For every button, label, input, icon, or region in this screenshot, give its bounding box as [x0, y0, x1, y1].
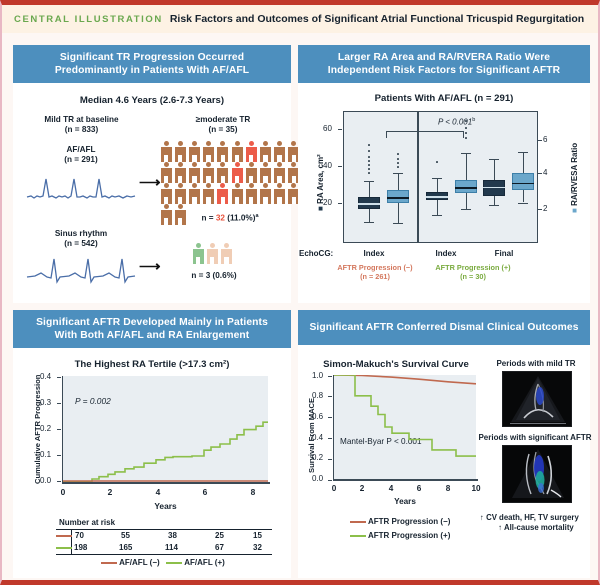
- people-group-sinus: [191, 243, 241, 264]
- whisker-cap: [518, 152, 528, 153]
- central-illustration-poster: CENTRAL ILLUSTRATION Risk Factors and Ou…: [0, 0, 600, 585]
- mild-tr-count: (n = 833): [65, 125, 98, 134]
- person-icon: [216, 141, 230, 162]
- panel-ra-area-boxplot: Larger RA Area and RA/RVERA Ratio Were I…: [298, 45, 590, 303]
- person-icon: [191, 243, 205, 264]
- legend-label-af-neg: AF/AFL (−): [119, 558, 160, 567]
- median-line: [387, 197, 409, 199]
- whisker-cap: [461, 153, 471, 154]
- survival-chart-title: Simon-Makuch's Survival Curve: [306, 359, 486, 370]
- moderate-tr-count: (n = 35): [209, 125, 238, 134]
- median-line: [358, 203, 380, 205]
- whisker-cap: [364, 181, 374, 182]
- x-tick-index-pos: Index: [426, 249, 466, 259]
- echo-bottom-caption: Periods with significant AFTR: [476, 433, 594, 443]
- risk-pos-2: 165: [119, 543, 132, 553]
- risk-table-top-rule: [56, 529, 272, 530]
- person-icon: [244, 162, 258, 183]
- x-tick-index-neg: Index: [354, 249, 394, 259]
- x-tick-final-pos: Final: [484, 249, 524, 259]
- x-axis-title: Years: [63, 501, 268, 511]
- number-at-risk-title: Number at risk: [59, 518, 115, 528]
- person-icon: [230, 162, 244, 183]
- whisker-cap: [518, 203, 528, 204]
- y-tick-1-0: 1.0: [312, 371, 323, 380]
- people-grid-sinus: [191, 243, 241, 264]
- moderate-tr-label: ≥moderate TR: [196, 115, 251, 124]
- person-icon: [159, 141, 173, 162]
- cumulative-chart-title: The Highest RA Tertile (>17.3 cm²): [13, 359, 291, 370]
- y-axis-title: Survival From MACE: [307, 398, 316, 473]
- survival-legend-pos: AFTR Progression (+): [350, 531, 450, 540]
- survival-curves: [334, 375, 476, 479]
- column-header-moderate-tr: ≥moderate TR (n = 35): [163, 115, 283, 135]
- median-line: [426, 196, 448, 198]
- risk-neg-4: 38: [168, 531, 177, 541]
- y-axis-right-title: ■ RA/RVESA Ratio: [570, 143, 579, 213]
- panel-survival-outcomes: Significant AFTR Conferred Dismal Clinic…: [298, 310, 590, 578]
- survival-legend-neg: AFTR Progression (−): [350, 517, 450, 526]
- legend-line-af-neg: [101, 562, 117, 564]
- afib-ecg-waveform: [25, 167, 137, 207]
- x-tick-6: 6: [408, 484, 430, 494]
- result-af-afl: n = 32 (11.0%)a: [159, 211, 301, 224]
- group-label-aftr-pos: AFTR Progression (+) (n = 30): [423, 263, 523, 281]
- outcome-summary: ↑ CV death, HF, TV surgery ↑ All-cause m…: [480, 513, 592, 533]
- person-icon: [173, 183, 187, 204]
- person-icon: [258, 162, 272, 183]
- result-sinus: n = 3 (0.6%): [159, 271, 269, 281]
- x-tick-4: 4: [146, 487, 170, 497]
- risk-neg-2: 55: [121, 531, 130, 541]
- legend-line-af-pos: [166, 562, 182, 564]
- y-axis-left-title: ■ RA Area, cm²: [316, 154, 325, 211]
- risk-table-divider: [71, 529, 72, 554]
- echocardiogram-significant-aftr: [502, 445, 572, 503]
- whisker-cap: [393, 173, 403, 174]
- risk-pos-4: 114: [165, 543, 178, 553]
- median-line: [512, 183, 534, 185]
- result-af-footnote: a: [255, 213, 258, 219]
- person-icon: [173, 141, 187, 162]
- outcome-line-2: ↑ All-cause mortality: [480, 523, 592, 533]
- box-ratio-index-pos: [455, 180, 477, 193]
- whisker-cap: [393, 223, 403, 224]
- column-header-mild-tr: Mild TR at baseline (n = 833): [19, 115, 144, 135]
- group-label-aftr-neg: AFTR Progression (−) (n = 261): [331, 263, 419, 281]
- sinus-ecg-waveform: [25, 251, 137, 291]
- panel-cumulative-aftr: Significant AFTR Developed Mainly in Pat…: [13, 310, 291, 578]
- panel2-title-line1: Larger RA Area and RA/RVERA Ratio Were: [302, 51, 586, 64]
- echo-top-caption: Periods with mild TR: [484, 359, 588, 369]
- boxplot-p-value: P < 0.001b: [438, 117, 475, 127]
- legend-label-aftr-pos: AFTR Progression (+): [368, 531, 450, 540]
- echocg-axis-label: EchoCG:: [299, 249, 333, 259]
- legend-line-aftr-pos: [350, 535, 366, 537]
- significance-bracket: [386, 131, 464, 138]
- person-icon: [230, 141, 244, 162]
- group-label-af-afl: AF/AFL (n = 291): [25, 145, 137, 165]
- x-axis-title: Years: [334, 497, 476, 507]
- panel1-title-line2: Predominantly in Patients With AF/AFL: [17, 64, 287, 77]
- person-icon: [187, 162, 201, 183]
- panel1-title: Significant TR Progression Occurred Pred…: [13, 45, 291, 83]
- mild-tr-label: Mild TR at baseline: [44, 115, 118, 124]
- person-icon: [159, 183, 173, 204]
- whisker-cap: [364, 222, 374, 223]
- poster-header: CENTRAL ILLUSTRATION Risk Factors and Ou…: [2, 5, 598, 33]
- person-icon: [230, 183, 244, 204]
- panel-tr-progression: Significant TR Progression Occurred Pred…: [13, 45, 291, 303]
- whisker-cap: [489, 205, 499, 206]
- risk-neg-0: 70: [75, 531, 84, 541]
- boxplot-chart-title: Patients With AF/AFL (n = 291): [298, 93, 590, 104]
- outcome-line-1: ↑ CV death, HF, TV surgery: [480, 513, 592, 523]
- result-af-value: 32: [216, 214, 225, 223]
- person-icon: [273, 183, 287, 204]
- person-icon: [273, 141, 287, 162]
- panel3-title-line2: With Both AF/AFL and RA Enlargement: [17, 329, 287, 342]
- x-tick-2: 2: [351, 484, 373, 494]
- risk-neg-8: 15: [253, 531, 262, 541]
- risk-pos-0: 198: [74, 543, 87, 553]
- panel3-title-line1: Significant AFTR Developed Mainly in Pat…: [17, 316, 287, 329]
- arrow-af-afl: ⟶: [139, 175, 161, 190]
- median-followup-label: Median 4.6 Years (2.6-7.3 Years): [13, 95, 291, 106]
- x-tick-10: 10: [465, 484, 487, 494]
- panel2-title-line2: Independent Risk Factors for Significant…: [302, 64, 586, 77]
- y-tick-0-0: 0.0: [312, 474, 323, 483]
- person-icon: [258, 141, 272, 162]
- x-tick-4: 4: [380, 484, 402, 494]
- result-af-prefix: n =: [201, 214, 215, 223]
- y-right-tick-2: 2: [543, 204, 547, 213]
- person-icon: [244, 141, 258, 162]
- person-icon: [273, 162, 287, 183]
- x-axis-line: [62, 482, 270, 484]
- person-icon: [219, 243, 233, 264]
- echocardiogram-mild-tr: [502, 371, 572, 427]
- group-label-sinus-rhythm: Sinus rhythm (n = 542): [25, 229, 137, 249]
- risk-table-bottom-rule: [56, 554, 272, 555]
- panel1-title-line1: Significant TR Progression Occurred: [17, 51, 287, 64]
- x-tick-0: 0: [51, 487, 75, 497]
- x-axis-line: [333, 479, 478, 481]
- y-right-tick-6: 6: [543, 135, 547, 144]
- whisker-cap: [489, 159, 499, 160]
- person-icon: [244, 183, 258, 204]
- risk-legend-line-pos: [56, 547, 72, 549]
- median-line: [455, 187, 477, 189]
- sinus-count: (n = 542): [64, 239, 97, 248]
- person-icon: [216, 162, 230, 183]
- median-line: [483, 187, 505, 189]
- panel4-title: Significant AFTR Conferred Dismal Clinic…: [298, 310, 590, 345]
- person-icon: [202, 183, 216, 204]
- panel3-title: Significant AFTR Developed Mainly in Pat…: [13, 310, 291, 348]
- cumulative-curves: [63, 376, 268, 482]
- af-afl-count: (n = 291): [64, 155, 97, 164]
- risk-pos-6: 67: [215, 543, 224, 553]
- panel4-title-text: Significant AFTR Conferred Dismal Clinic…: [302, 321, 586, 334]
- arrow-sinus: ⟶: [139, 259, 161, 274]
- header-tag: CENTRAL ILLUSTRATION: [14, 14, 163, 25]
- whisker-cap: [432, 178, 442, 179]
- risk-legend-line-neg: [56, 535, 72, 537]
- person-icon: [202, 162, 216, 183]
- whisker-cap: [432, 215, 442, 216]
- person-icon: [159, 162, 173, 183]
- person-icon: [187, 183, 201, 204]
- cumulative-legend: AF/AFL (−) AF/AFL (+): [53, 558, 273, 567]
- page-title: Risk Factors and Outcomes of Significant…: [170, 13, 584, 25]
- x-tick-2: 2: [98, 487, 122, 497]
- sinus-label: Sinus rhythm: [55, 229, 107, 238]
- panel2-title: Larger RA Area and RA/RVERA Ratio Were I…: [298, 45, 590, 83]
- x-tick-8: 8: [241, 487, 265, 497]
- y-axis-title: Cumulative AFTR Progression: [33, 375, 42, 484]
- x-tick-0: 0: [323, 484, 345, 494]
- result-af-suffix: (11.0%): [225, 214, 256, 223]
- whisker-cap: [461, 209, 471, 210]
- person-icon: [205, 243, 219, 264]
- person-icon: [187, 141, 201, 162]
- x-tick-6: 6: [193, 487, 217, 497]
- legend-label-af-pos: AF/AFL (+): [184, 558, 225, 567]
- y-left-tick-60: 60: [323, 124, 332, 133]
- y-right-tick-4: 4: [543, 168, 547, 177]
- person-icon: [216, 183, 230, 204]
- person-icon: [173, 162, 187, 183]
- risk-neg-6: 25: [215, 531, 224, 541]
- legend-line-aftr-neg: [350, 521, 366, 523]
- risk-pos-8: 32: [253, 543, 262, 553]
- person-icon: [202, 141, 216, 162]
- af-afl-label: AF/AFL: [66, 145, 95, 154]
- person-icon: [258, 183, 272, 204]
- x-tick-8: 8: [437, 484, 459, 494]
- legend-label-aftr-neg: AFTR Progression (−): [368, 517, 450, 526]
